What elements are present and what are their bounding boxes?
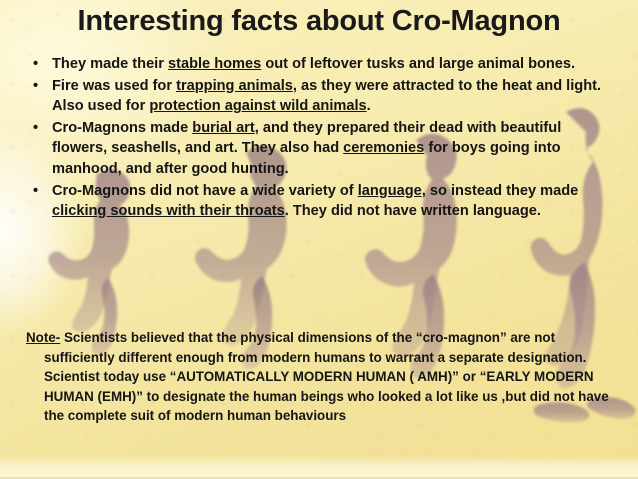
bullet-marker: • [33, 54, 38, 75]
list-item-text: They made their stable homes out of left… [52, 56, 575, 72]
list-item-text: Cro-Magnons made burial art, and they pr… [52, 120, 561, 177]
bullet-marker: • [33, 181, 38, 202]
list-item: • Cro-Magnons did not have a wide variet… [22, 181, 602, 222]
list-item-text: Cro-Magnons did not have a wide variety … [52, 183, 578, 220]
bottom-light-strip [0, 455, 638, 479]
bullet-marker: • [33, 76, 38, 97]
note-text: Note- Scientists believed that the physi… [26, 330, 609, 423]
bullet-list: • They made their stable homes out of le… [22, 54, 602, 223]
list-item: • Fire was used for trapping animals, as… [22, 76, 602, 117]
page-title: Interesting facts about Cro-Magnon [0, 6, 638, 38]
slide-canvas: Interesting facts about Cro-Magnon • The… [0, 0, 638, 479]
list-item: • They made their stable homes out of le… [22, 54, 602, 75]
bullet-marker: • [33, 118, 38, 139]
list-item: • Cro-Magnons made burial art, and they … [22, 118, 602, 180]
note-paragraph: Note- Scientists believed that the physi… [26, 328, 610, 426]
list-item-text: Fire was used for trapping animals, as t… [52, 78, 601, 115]
